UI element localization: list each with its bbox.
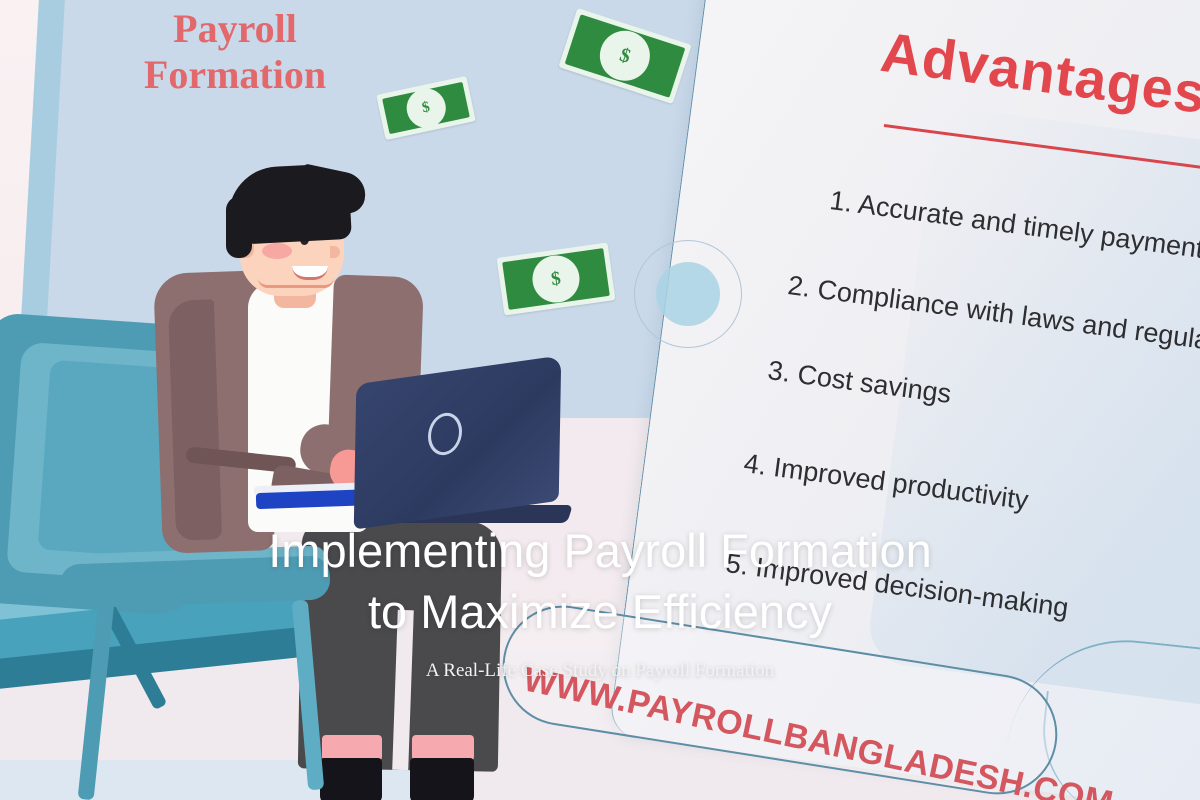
poster-headline: Payroll Formation [100, 6, 370, 99]
decorative-dot-icon [656, 262, 720, 326]
poster-headline-line-2: Formation [100, 52, 370, 98]
list-item: 2. Compliance with laws and regulations [786, 270, 1200, 364]
character-shoe [320, 758, 382, 800]
list-item: 3. Cost savings [766, 355, 953, 410]
character-shoe [410, 758, 474, 800]
list-item: 4. Improved productivity [742, 448, 1030, 516]
list-item: 5. Improved decision-making [724, 548, 1070, 624]
poster-headline-line-1: Payroll [100, 6, 370, 52]
character-cheek [262, 243, 292, 259]
character-chin [258, 278, 334, 288]
character-hair-side [226, 196, 252, 258]
poster-canvas: Advantages 1. Accurate and timely paymen… [0, 0, 1200, 800]
list-item: 1. Accurate and timely payment [828, 185, 1200, 265]
character-cardigan-shading [168, 299, 222, 540]
